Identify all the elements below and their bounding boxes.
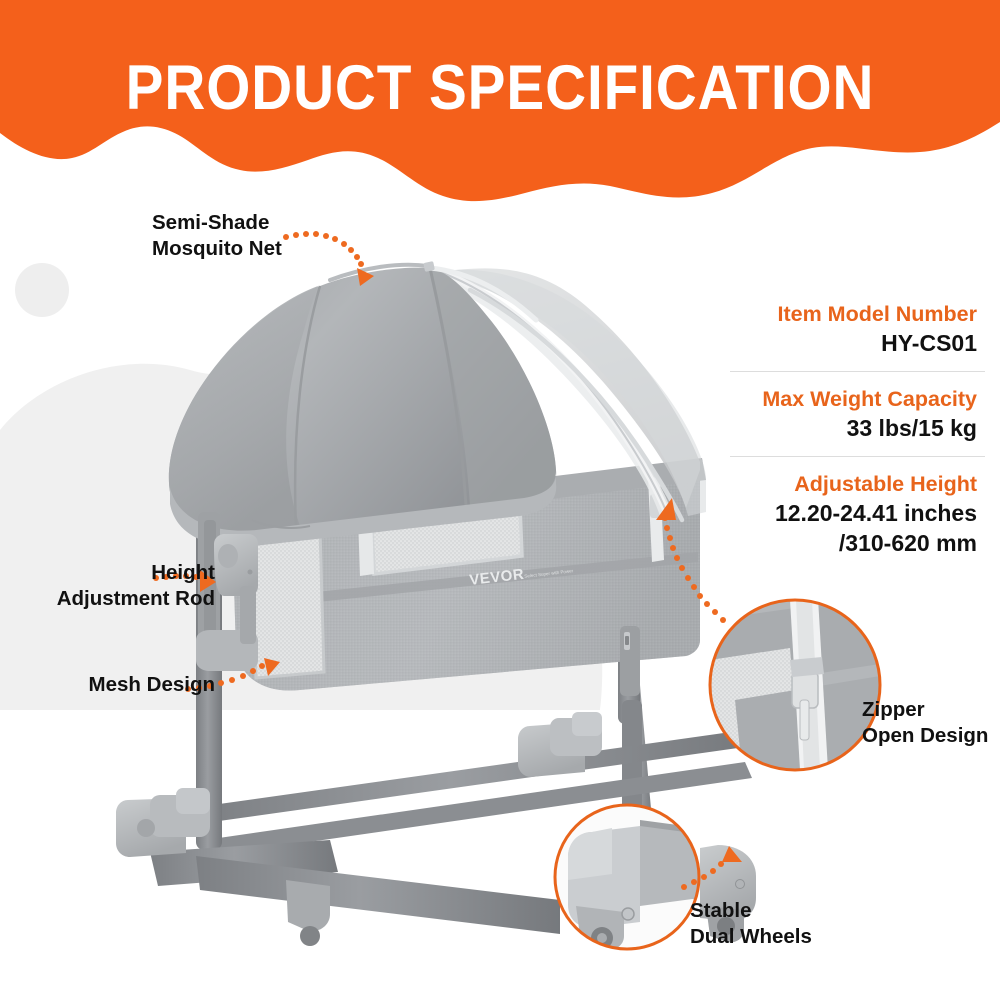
- spec-divider-1: [730, 371, 985, 372]
- spec-label-height: Adjustable Height: [700, 470, 977, 498]
- callout-height-rod-line2: Adjustment Rod: [20, 586, 215, 612]
- arrow-mosquito-net: [283, 231, 374, 286]
- callout-zipper-line2: Open Design: [862, 723, 988, 749]
- product-specification-page: PRODUCT SPECIFICATION: [0, 0, 1000, 1000]
- spec-row-weight: Max Weight Capacity 33 lbs/15 kg: [700, 385, 985, 443]
- spec-value-height-inches: 12.20-24.41 inches: [700, 498, 977, 528]
- callout-stable-dual-wheels: Stable Dual Wheels: [690, 898, 812, 950]
- callout-mosquito-net: Semi-Shade Mosquito Net: [152, 210, 282, 262]
- callout-zipper-line1: Zipper: [862, 697, 988, 723]
- spec-row-height: Adjustable Height 12.20-24.41 inches /31…: [700, 470, 985, 558]
- spec-value-model: HY-CS01: [700, 328, 977, 358]
- callout-mosquito-net-line1: Semi-Shade: [152, 210, 282, 236]
- spec-value-height-mm: /310-620 mm: [700, 528, 977, 558]
- callout-height-adjustment-rod: Height Adjustment Rod: [20, 560, 215, 612]
- specifications-panel: Item Model Number HY-CS01 Max Weight Cap…: [700, 300, 985, 558]
- wheel-detail-inset: [555, 805, 700, 950]
- spec-label-weight: Max Weight Capacity: [700, 385, 977, 413]
- callout-mesh-design-line1: Mesh Design: [20, 672, 215, 698]
- callout-height-rod-line1: Height: [20, 560, 215, 586]
- callout-mesh-design: Mesh Design: [20, 672, 215, 698]
- zipper-detail-inset: [710, 596, 880, 770]
- spec-label-model: Item Model Number: [700, 300, 977, 328]
- spec-row-model: Item Model Number HY-CS01: [700, 300, 985, 358]
- spec-divider-2: [730, 456, 985, 457]
- callout-zipper-open-design: Zipper Open Design: [862, 697, 988, 749]
- callout-wheels-line1: Stable: [690, 898, 812, 924]
- spec-value-weight: 33 lbs/15 kg: [700, 413, 977, 443]
- callout-wheels-line2: Dual Wheels: [690, 924, 812, 950]
- callout-mosquito-net-line2: Mosquito Net: [152, 236, 282, 262]
